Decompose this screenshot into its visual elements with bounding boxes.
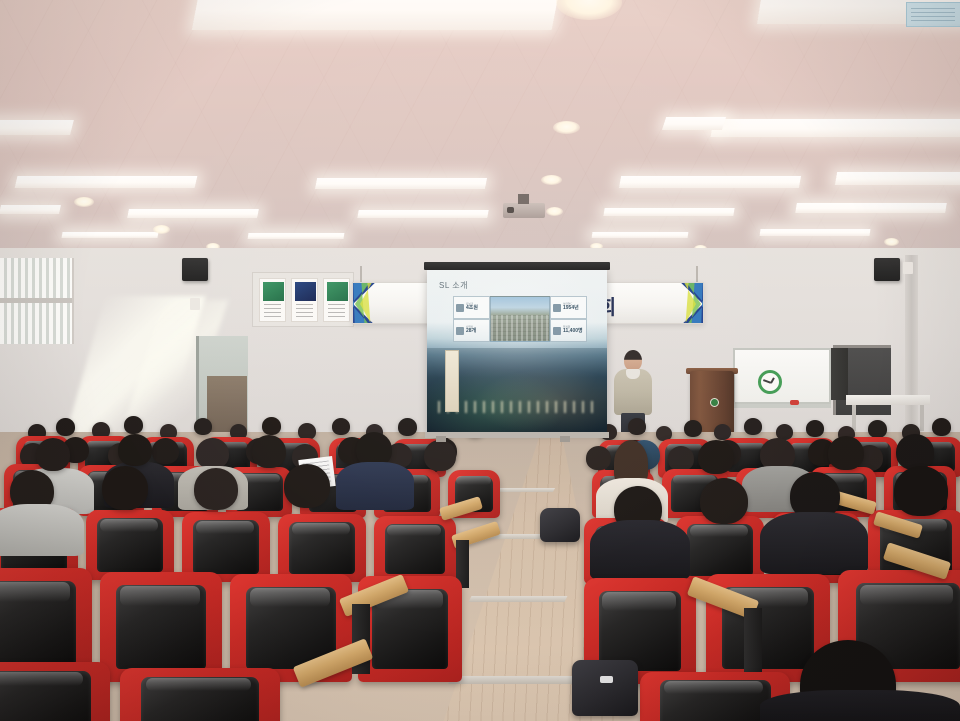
slide-stat-value: 28개 [466,329,476,334]
seat-armrest-post [744,608,762,678]
poster-color-band [263,282,284,301]
wall-plate-left [190,298,200,310]
factory-icon [456,327,464,335]
audience-head [744,418,762,435]
audience-head [668,446,694,471]
slide-stat-value: 1954년 [563,306,579,311]
side-table-leg [920,405,924,431]
backpack-aisle-right[interactable] [572,660,638,716]
ceiling-downlight [153,225,170,234]
slide-stat-cell: 자본금 4조원 [453,296,490,319]
ceiling-downlight [884,238,899,246]
auditorium-seat[interactable] [0,662,110,721]
ceiling-strip-light [619,176,801,188]
wall-pillar [905,255,918,440]
poster-item [323,278,350,322]
seat-gloss [250,588,331,607]
wall-plate-right [903,262,913,274]
presenter-head [624,350,642,371]
ceiling-downlight [546,207,563,216]
window [0,258,74,344]
poster-text-lines [296,304,313,320]
seat-gloss [0,672,83,686]
audience-shoulders [336,462,414,510]
projection-screen-case [424,262,610,270]
slide-stat-cell: 사업장 28개 [453,319,490,342]
screen-glare-reflection [906,2,960,27]
auditorium-seat[interactable] [86,510,174,580]
slide-stat-value: 4조원 [466,306,478,311]
ceiling-strip-light [248,233,345,239]
projection-screen: SL 소개 자본금 4조원 사업장 28개 [427,270,607,433]
wall-clock-icon [758,370,782,394]
audience-head [284,464,330,508]
auditorium-seat[interactable] [100,572,222,682]
audience-head [194,468,238,510]
projector-lens [507,207,514,213]
seat-gloss [0,582,70,602]
ceiling-strip-light [662,117,726,130]
auditorium-seat[interactable] [374,516,456,582]
audience-head [194,418,212,435]
building-icon [553,304,561,312]
poster-item [259,278,286,322]
side-table [846,395,930,405]
slide-title: SL 소개 [439,280,468,291]
screen-weight-bar [425,432,609,438]
backpack-logo-patch [600,676,613,683]
audience-head [684,420,702,437]
ceiling-projector [503,203,545,218]
auditorium-photo: 메카트로 행 간담회 SL 소개 자본금 4조원 [0,0,960,721]
audience-head [932,418,951,436]
ceiling-strip-light [0,205,61,214]
banner-swoosh-right-icon [645,282,704,324]
poster-color-band [295,282,316,301]
slide-stat-cell: 임직원 11,400명 [550,319,587,342]
seat-gloss [120,586,201,606]
glare-lines [911,8,955,22]
seat-gloss [456,476,490,485]
podium-emblem-icon [710,398,719,407]
auditorium-seat[interactable] [278,514,366,582]
audience-shoulders [760,512,868,574]
poster-color-band [327,282,348,301]
slide-stat-grid: 자본금 4조원 사업장 28개 설립연도 [453,296,587,342]
seat-gloss [196,521,254,534]
person-icon [456,304,464,312]
slide-vertical-banner [445,350,459,412]
banner-hanger [360,266,362,282]
auditorium-seat[interactable] [120,668,280,721]
seat-gloss [690,525,748,537]
audience-head [36,438,70,471]
wall-speaker-left [182,258,208,281]
window-mullion [0,298,74,303]
poster-board [252,272,354,327]
ceiling-downlight [74,197,94,207]
audience-head [102,466,148,510]
projector-mount [518,194,529,204]
ceiling-strip-light [127,209,259,218]
whiteboard-tray [733,404,831,408]
audience-head [828,436,864,470]
slide-center-photo [490,296,550,342]
ceiling-strip-light [592,232,689,238]
ceiling-strip-light [835,172,960,185]
slide-night-lights [438,401,600,413]
slide-stat-column-left: 자본금 4조원 사업장 28개 [453,296,490,342]
audience-head [262,417,281,435]
ceiling-strip-light [603,208,734,216]
audience-head [698,440,734,474]
ceiling-downlight [553,121,580,134]
ceiling-strip-light [315,178,487,189]
poster-text-lines [264,304,281,320]
ceiling-strip-light [0,120,74,135]
seat-gloss [292,523,350,535]
seat-gloss [664,681,763,694]
poster-text-lines [328,304,345,320]
audience-head [424,440,456,471]
aisle-step [469,596,568,602]
audience-shoulders [760,690,960,721]
slide-stat-value: 11,400명 [563,329,583,334]
audience-head [894,466,948,516]
banner-hanger [696,266,698,282]
ceiling-strip-light [357,210,488,218]
audience-head [56,418,75,436]
slide-stat-column-right: 설립연도 1954년 임직원 11,400명 [550,296,587,342]
audience-head [124,416,143,434]
ceiling-strip-light [15,176,198,188]
aisle-step [495,488,555,492]
seat-gloss [100,519,158,532]
audience-head [118,434,152,466]
ceiling-strip-light [760,229,871,236]
seat-gloss [860,585,952,605]
audience-shoulders [590,520,690,580]
seat-gloss [387,525,441,537]
aisle-step [448,676,576,684]
screen-foot [560,436,570,442]
backpack-aisle-left[interactable] [540,508,580,542]
audience-head [196,438,229,469]
whiteboard-marker [790,400,799,405]
ceiling-strip-light [192,0,561,30]
audience-head [586,446,611,470]
ceiling-strip-light [795,203,947,213]
people-icon [553,327,561,335]
audience-head [700,478,748,524]
audience-head [398,418,417,436]
audience-head [628,418,646,435]
slide-stat-cell: 설립연도 1954년 [550,296,587,319]
screen-foot [436,436,446,442]
ceiling-strip-light [61,232,158,238]
seat-gloss [602,592,676,611]
audience-head [252,435,286,468]
whiteboard [733,348,831,404]
ceiling-downlight [541,175,562,185]
side-table-leg [852,405,856,431]
ceiling-strip-light [710,119,960,137]
audience-head [896,434,934,470]
audience-head [152,438,179,464]
seat-gloss [146,678,252,691]
presenter-collar [626,369,640,379]
audience-head [806,420,824,437]
audience-head [332,418,350,435]
wall-speaker-right [874,258,900,281]
audience-head [868,420,887,438]
poster-item [291,278,318,322]
audience-shoulders [0,504,84,556]
